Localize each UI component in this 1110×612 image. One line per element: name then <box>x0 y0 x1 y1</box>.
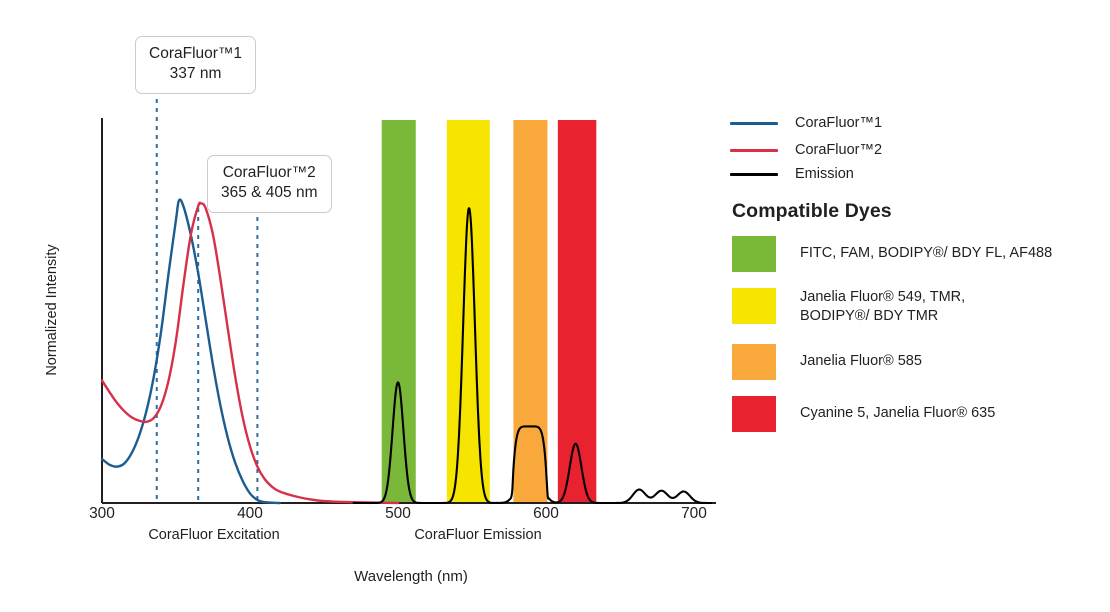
region-label-emission: CoraFluor Emission <box>414 527 541 543</box>
legend-item-corafluor2: CoraFluor™2 <box>730 140 882 160</box>
legend-item-corafluor1: CoraFluor™1 <box>730 113 882 133</box>
x-tick-400: 400 <box>237 505 263 523</box>
yellow-band <box>447 120 490 503</box>
x-tick-700: 700 <box>681 505 707 523</box>
legend-item-emission: Emission <box>730 164 854 184</box>
callout-corafluor2-line1: CoraFluor™2 <box>221 163 318 183</box>
callout-corafluor1-line1: CoraFluor™1 <box>149 44 242 64</box>
series-curve-corafluor2 <box>102 203 398 503</box>
callout-corafluor1: CoraFluor™1 337 nm <box>135 36 256 94</box>
dye-item-green: FITC, FAM, BODIPY®/ BDY FL, AF488 <box>732 236 1052 272</box>
dye-item-yellow: Janelia Fluor® 549, TMR, BODIPY®/ BDY TM… <box>732 288 965 326</box>
x-tick-600: 600 <box>533 505 559 523</box>
green-band <box>382 120 416 503</box>
legend-panel: CoraFluor™1 CoraFluor™2 Emission Compati… <box>730 0 1110 612</box>
y-axis-title: Normalized Intensity <box>44 244 60 375</box>
dye-color-swatch-yellow <box>732 288 776 324</box>
legend-label-corafluor2: CoraFluor™2 <box>795 142 882 158</box>
orange-band <box>513 120 547 503</box>
legend-line-swatch-emission <box>730 173 778 176</box>
x-tick-300: 300 <box>89 505 115 523</box>
legend-label-corafluor1: CoraFluor™1 <box>795 115 882 131</box>
dye-color-swatch-red <box>732 396 776 432</box>
x-axis-title: Wavelength (nm) <box>354 568 468 585</box>
dye-color-swatch-orange <box>732 344 776 380</box>
chart-root: Normalized Intensity Wavelength (nm) Cor… <box>0 0 1110 612</box>
dye-item-orange: Janelia Fluor® 585 <box>732 344 922 380</box>
callout-corafluor1-line2: 337 nm <box>149 64 242 84</box>
compatible-dyes-heading: Compatible Dyes <box>732 200 892 223</box>
dye-item-red: Cyanine 5, Janelia Fluor® 635 <box>732 396 995 432</box>
dye-label-yellow: Janelia Fluor® 549, TMR, BODIPY®/ BDY TM… <box>800 288 965 326</box>
region-label-excitation: CoraFluor Excitation <box>148 527 279 543</box>
dye-color-swatch-green <box>732 236 776 272</box>
callout-corafluor2-line2: 365 & 405 nm <box>221 183 318 203</box>
dye-label-green: FITC, FAM, BODIPY®/ BDY FL, AF488 <box>800 236 1052 263</box>
dye-label-orange: Janelia Fluor® 585 <box>800 344 922 371</box>
x-tick-500: 500 <box>385 505 411 523</box>
callout-corafluor2: CoraFluor™2 365 & 405 nm <box>207 155 332 213</box>
legend-line-swatch-corafluor1 <box>730 122 778 125</box>
plot-area: Normalized Intensity Wavelength (nm) Cor… <box>0 0 730 612</box>
legend-line-swatch-corafluor2 <box>730 149 778 152</box>
dye-label-red: Cyanine 5, Janelia Fluor® 635 <box>800 396 995 423</box>
legend-label-emission: Emission <box>795 166 854 182</box>
